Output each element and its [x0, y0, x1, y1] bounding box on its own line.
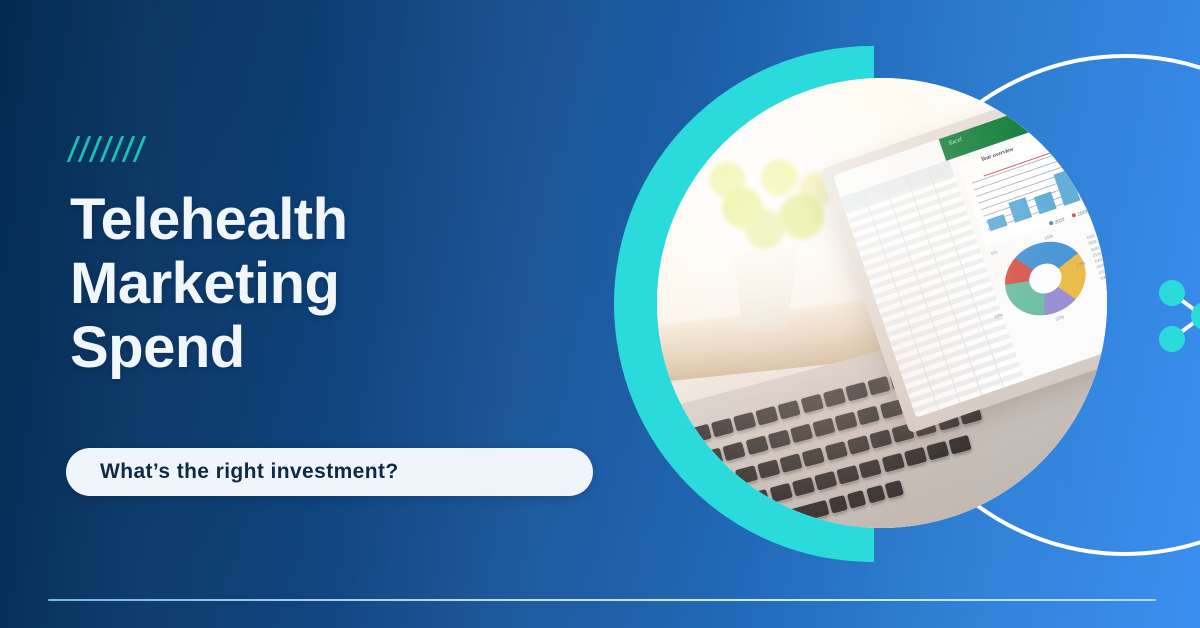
- slash-decoration-icon: [72, 136, 192, 162]
- keyboard-key: [747, 489, 770, 509]
- keyboard-key: [845, 382, 868, 402]
- donut-label-3: 22%: [1055, 314, 1065, 322]
- headline-block: Telehealth Marketing Spend What’s the ri…: [0, 0, 620, 628]
- spreadsheet-app-label: Excel: [948, 137, 963, 147]
- bottom-divider: [48, 599, 1156, 601]
- keyboard-key: [757, 459, 780, 479]
- keyboard-key: [823, 388, 846, 408]
- keyboard-key: [814, 471, 837, 491]
- keyboard-key: [885, 480, 904, 499]
- keyboard-key: [835, 412, 858, 432]
- keyboard-key: [824, 441, 847, 461]
- keyboard-key: [690, 477, 713, 497]
- hero-photo: Excel Year overview 20222023 15% 27%: [657, 78, 1107, 528]
- subtitle-pill: What’s the right investment?: [66, 448, 593, 496]
- keyboard-key: [857, 406, 880, 426]
- keyboard-key: [802, 447, 825, 467]
- keyboard-key: [881, 453, 904, 473]
- keyboard-key: [770, 500, 830, 528]
- keyboard-key: [847, 435, 870, 455]
- keyboard-key: [837, 465, 860, 485]
- keyboard-key: [702, 501, 725, 521]
- keyboard-key: [904, 447, 927, 467]
- plant-foliage: [698, 141, 847, 263]
- donut-label-5: 6%: [990, 249, 998, 256]
- keyboard-key: [847, 490, 866, 509]
- keyboard-key: [812, 418, 835, 438]
- keyboard-key: [867, 376, 890, 396]
- page-title: Telehealth Marketing Spend: [70, 188, 590, 379]
- page-title-line-3: Spend: [70, 316, 590, 380]
- keyboard-key: [700, 448, 723, 468]
- keyboard-key: [723, 442, 746, 462]
- keyboard-key: [792, 477, 815, 497]
- banner-root: Telehealth Marketing Spend What’s the ri…: [0, 0, 1200, 628]
- keyboard-key: [755, 406, 778, 426]
- keyboard-key: [800, 394, 823, 414]
- keyboard-key: [869, 429, 892, 449]
- keyboard-key: [735, 465, 758, 485]
- page-title-line-1: Telehealth: [70, 188, 590, 252]
- spreadsheet-column-rule: [905, 174, 982, 395]
- chart-year-overview-title: Year overview: [980, 147, 1014, 164]
- keyboard-key: [949, 435, 972, 455]
- keyboard-key: [711, 418, 734, 438]
- keyboard-key: [688, 424, 711, 444]
- spreadsheet-column-rule: [883, 182, 960, 403]
- keyboard-key: [666, 430, 689, 450]
- keyboard-key: [733, 412, 756, 432]
- keyboard-key: [778, 400, 801, 420]
- keyboard-key: [790, 424, 813, 444]
- keyboard-key: [769, 483, 792, 503]
- subtitle-text: What’s the right investment?: [100, 460, 399, 484]
- keyboard-key: [678, 454, 701, 474]
- donut-label-1: 15%: [1044, 234, 1054, 242]
- keyboard-key: [768, 430, 791, 450]
- chart-share-value-title: Share value: [1096, 208, 1107, 223]
- keyboard-key: [725, 495, 748, 515]
- keyboard-key: [733, 521, 752, 528]
- page-title-line-2: Marketing: [70, 252, 590, 316]
- keyboard-key: [751, 516, 770, 528]
- keyboard-key: [829, 495, 848, 514]
- keyboard-key: [780, 453, 803, 473]
- share-nodes-icon: [1157, 276, 1200, 356]
- donut-ring: [993, 228, 1099, 329]
- hero-image-composition: Excel Year overview 20222023 15% 27%: [600, 0, 1200, 628]
- keyboard-key: [859, 459, 882, 479]
- keyboard-key: [714, 526, 733, 528]
- keyboard-key: [745, 436, 768, 456]
- keyboard-key: [866, 485, 885, 504]
- keyboard-key: [926, 441, 949, 461]
- keyboard-key: [712, 471, 735, 491]
